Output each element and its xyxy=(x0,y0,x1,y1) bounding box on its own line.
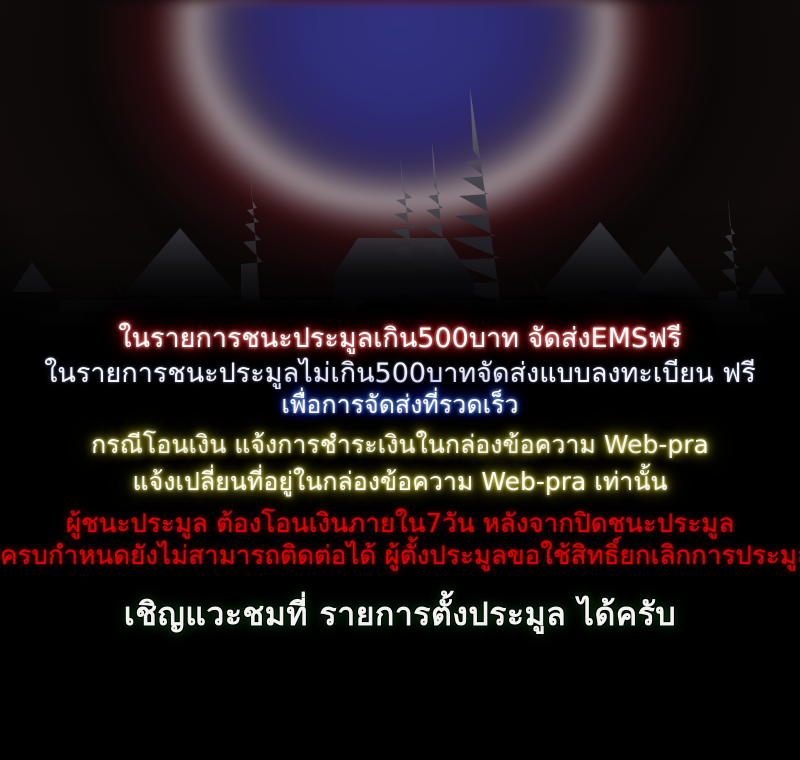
line-address-change-notice: แจ้งเปลี่ยนที่อยู่ในกล่องข้อความ Web-pra… xyxy=(0,463,800,500)
spacer xyxy=(0,500,800,508)
line-shipping-ems-free: ในรายการชนะประมูลเกิน500บาท จัดส่งEMSฟรี xyxy=(0,318,800,355)
line-invite-browse: เชิญแวะชมที่ รายการตั้งประมูล ได้ครับ xyxy=(0,572,800,631)
thai-temple-silhouette xyxy=(0,0,800,340)
line-cancel-right: ครบกำหนดยังไม่สามารถติดต่อได้ ผู้ตั้งประ… xyxy=(0,540,800,572)
line-payment-deadline: ผู้ชนะประมูล ต้องโอนเงินภายใน7วัน หลังจา… xyxy=(0,508,800,540)
terms-text-block: ในรายการชนะประมูลเกิน500บาท จัดส่งEMSฟรี… xyxy=(0,318,800,631)
line-payment-notice: กรณีโอนเงิน แจ้งการชำระเงินในกล่องข้อควา… xyxy=(0,426,800,463)
line-shipping-registered-free: ในรายการชนะประมูลไม่เกิน500บาทจัดส่งแบบล… xyxy=(0,355,800,389)
line-fast-delivery: เพื่อการจัดส่งที่รวดเร็ว xyxy=(0,389,800,420)
auction-terms-banner: ในรายการชนะประมูลเกิน500บาท จัดส่งEMSฟรี… xyxy=(0,0,800,760)
